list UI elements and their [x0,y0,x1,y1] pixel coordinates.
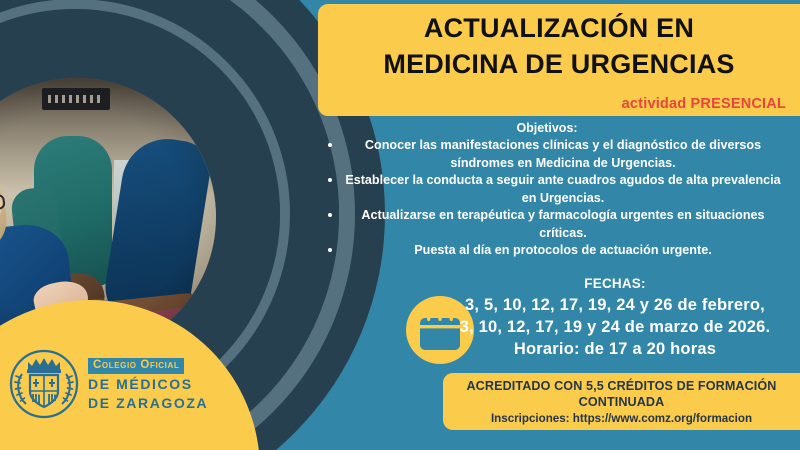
bullet-icon [328,178,332,182]
accreditation-line-2: CONTINUADA [443,394,800,410]
heraldic-crest-icon [8,348,80,420]
dates-line-february: 3, 5, 10, 12, 17, 19, 24 y 26 de febrero… [430,294,800,316]
objective-item: Conocer las manifestaciones clínicas y e… [300,137,800,172]
objective-item: Puesta al día en protocolos de actuación… [300,242,800,260]
dates-line-march: 3, 10, 12, 17, 19 y 24 de marzo de 2026. [430,316,800,338]
organization-logo: Colegio Oficial DE MÉDICOS DE ZARAGOZA [8,343,228,425]
registration-link[interactable]: Inscripciones: https://www.comz.org/form… [443,410,800,427]
objective-text: Puesta al día en protocolos de actuación… [414,243,711,257]
poster-canvas: Colegio Oficial DE MÉDICOS DE ZARAGOZA A… [0,0,800,450]
page-title-line-2: MEDICINA DE URGENCIAS [318,46,800,82]
objectives-section: Objetivos: Conocer las manifestaciones c… [300,120,800,260]
accreditation-panel: ACREDITADO CON 5,5 CRÉDITOS DE FORMACIÓN… [443,373,800,430]
objective-text: Establecer la conducta a seguir ante cua… [345,173,780,205]
dates-heading: FECHAS: [430,274,800,294]
bullet-icon [328,213,332,217]
logo-line-colegio-oficial: Colegio Oficial [88,358,184,374]
logo-line-de-zaragoza: DE ZARAGOZA [88,395,208,412]
objective-item: Actualizarse en terapéutica y farmacolog… [300,207,800,242]
page-title-line-1: ACTUALIZACIÓN EN [318,10,800,46]
dates-schedule: Horario: de 17 a 20 horas [430,338,800,360]
objective-text: Actualizarse en terapéutica y farmacolog… [361,208,764,240]
modality-badge: actividad PRESENCIAL [622,96,786,112]
bullet-icon [328,143,332,147]
logo-line-de-medicos: DE MÉDICOS [88,376,208,393]
objectives-heading: Objetivos: [300,120,800,137]
accreditation-line-1: ACREDITADO CON 5,5 CRÉDITOS DE FORMACIÓN [443,378,800,394]
bullet-icon [328,248,332,252]
title-panel: ACTUALIZACIÓN EN MEDICINA DE URGENCIAS a… [318,4,800,116]
objective-text: Conocer las manifestaciones clínicas y e… [365,138,761,170]
dates-section: FECHAS: 3, 5, 10, 12, 17, 19, 24 y 26 de… [430,274,800,360]
objective-item: Establecer la conducta a seguir ante cua… [300,172,800,207]
